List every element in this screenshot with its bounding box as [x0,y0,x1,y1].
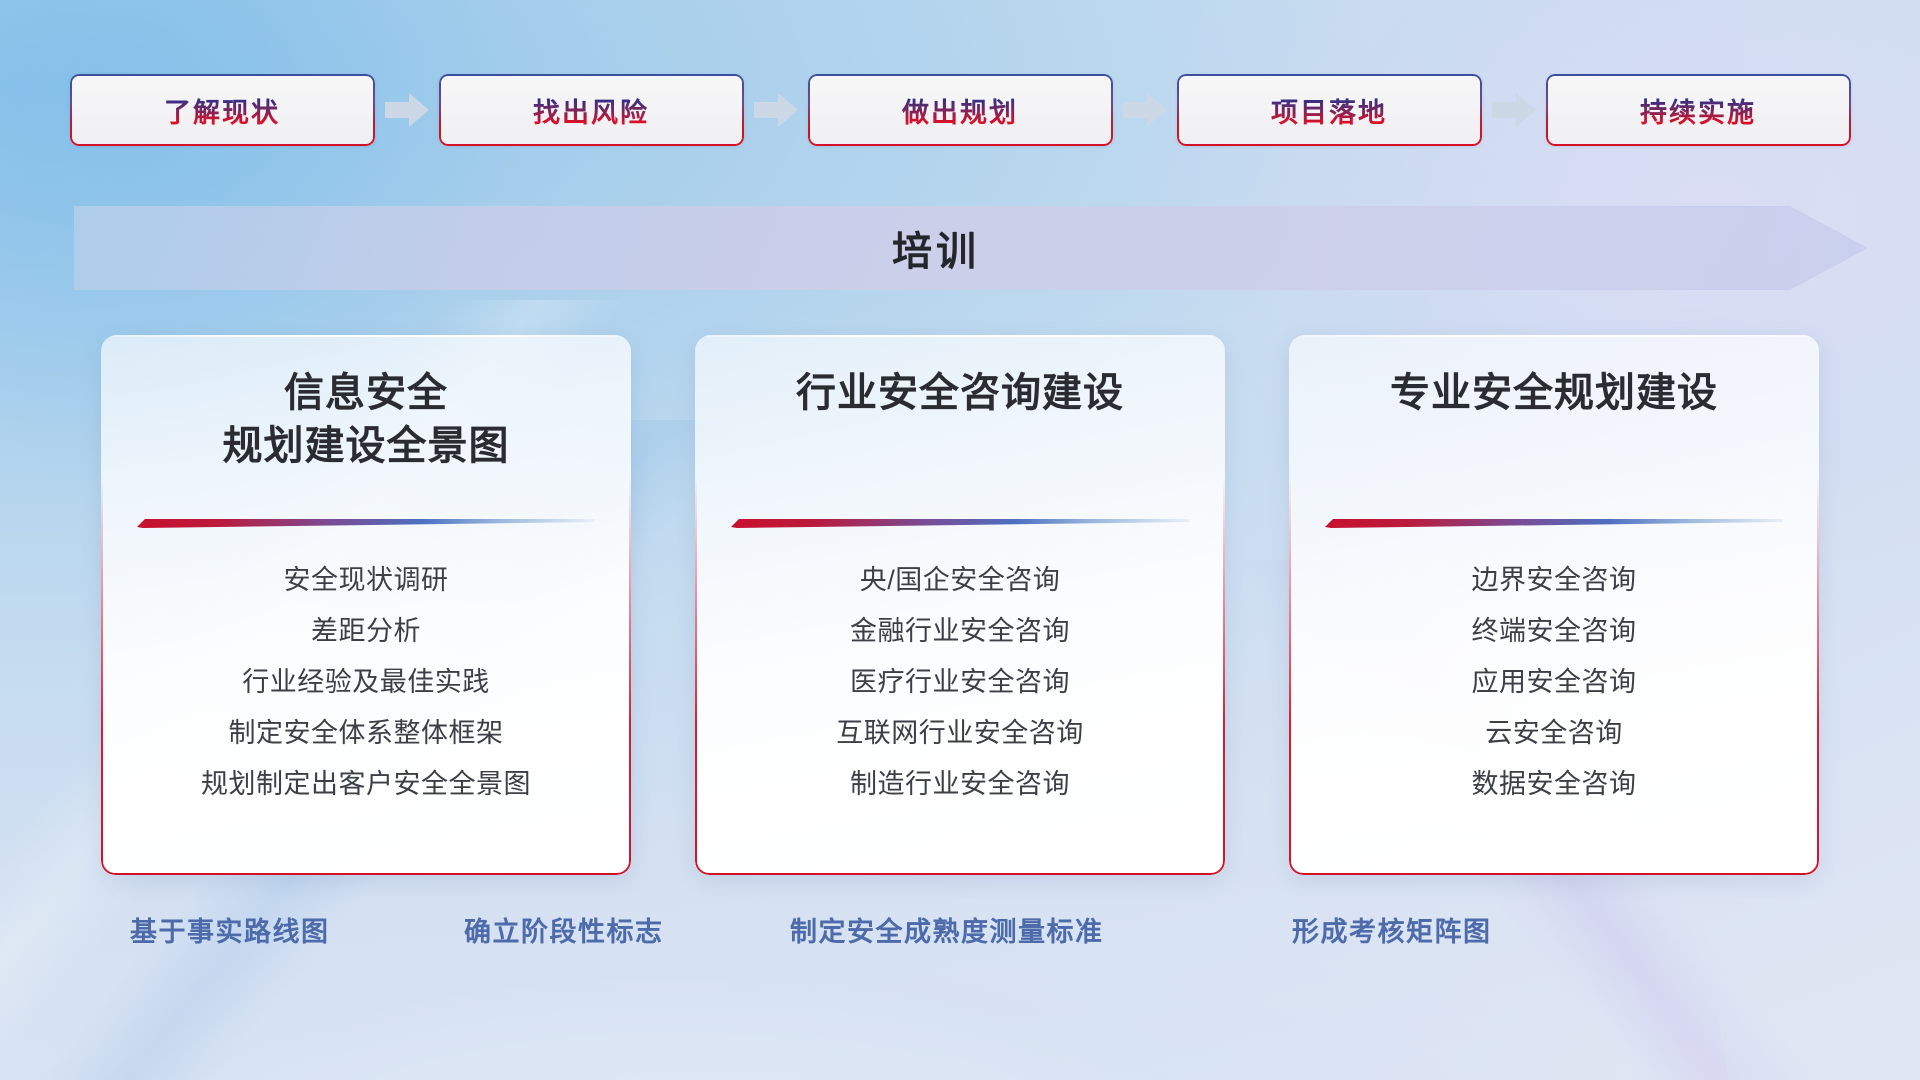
card-divider [137,515,595,529]
process-step-row: 了解现状 找出风险 做出规划 [0,74,1920,146]
step-item-2: 找出风险 [439,74,744,146]
step-label-2: 找出风险 [533,91,649,130]
footer-note-3: 制定安全成熟度测量标准 [790,910,1104,949]
card-item-list: 央/国企安全咨询 金融行业安全咨询 医疗行业安全咨询 互联网行业安全咨询 制造行… [695,555,1225,810]
chevron-right-arrow-icon [1113,74,1177,146]
step-label-4: 项目落地 [1271,91,1387,130]
list-item: 医疗行业安全咨询 [695,657,1225,708]
footer-note-4: 形成考核矩阵图 [1292,910,1492,949]
list-item: 规划制定出客户安全全景图 [101,759,631,810]
chevron-right-arrow-icon [744,74,808,146]
card-top-highlight [101,335,631,337]
step-label-3: 做出规划 [902,91,1018,130]
card-title: 行业安全咨询建设 [695,367,1225,420]
card-professional-security-planning[interactable]: 专业安全规划建设 [1289,335,1819,875]
card-item-list: 安全现状调研 差距分析 行业经验及最佳实践 制定安全体系整体框架 规划制定出客户… [101,555,631,810]
card-title: 专业安全规划建设 [1289,367,1819,420]
step-box-1[interactable]: 了解现状 [70,74,375,146]
list-item: 制定安全体系整体框架 [101,708,631,759]
step-item-4: 项目落地 [1177,74,1482,146]
training-banner: 培训 [74,206,1868,290]
step-item-3: 做出规划 [808,74,1113,146]
card-row: 信息安全 规划建设全景图 [0,335,1920,875]
list-item: 云安全咨询 [1289,708,1819,759]
card-top-highlight [1289,335,1819,337]
step-box-5[interactable]: 持续实施 [1546,74,1851,146]
footer-note-row: 基于事实路线图 确立阶段性标志 制定安全成熟度测量标准 形成考核矩阵图 [0,910,1920,970]
list-item: 边界安全咨询 [1289,555,1819,606]
card-information-security-blueprint[interactable]: 信息安全 规划建设全景图 [101,335,631,875]
list-item: 行业经验及最佳实践 [101,657,631,708]
step-box-3[interactable]: 做出规划 [808,74,1113,146]
step-box-4[interactable]: 项目落地 [1177,74,1482,146]
chevron-right-arrow-icon [1482,74,1546,146]
list-item: 制造行业安全咨询 [695,759,1225,810]
card-divider [731,515,1189,529]
step-item-5: 持续实施 [1546,74,1851,146]
footer-note-1: 基于事实路线图 [130,910,330,949]
list-item: 金融行业安全咨询 [695,606,1225,657]
training-banner-label: 培训 [74,206,1868,290]
footer-note-2: 确立阶段性标志 [464,910,664,949]
card-divider [1325,515,1783,529]
step-label-5: 持续实施 [1640,91,1756,130]
step-item-1: 了解现状 [70,74,375,146]
chevron-right-arrow-icon [375,74,439,146]
card-item-list: 边界安全咨询 终端安全咨询 应用安全咨询 云安全咨询 数据安全咨询 [1289,555,1819,810]
list-item: 差距分析 [101,606,631,657]
list-item: 终端安全咨询 [1289,606,1819,657]
list-item: 数据安全咨询 [1289,759,1819,810]
list-item: 应用安全咨询 [1289,657,1819,708]
list-item: 央/国企安全咨询 [695,555,1225,606]
list-item: 互联网行业安全咨询 [695,708,1225,759]
step-box-2[interactable]: 找出风险 [439,74,744,146]
step-label-1: 了解现状 [164,91,280,130]
card-top-highlight [695,335,1225,337]
card-title: 信息安全 规划建设全景图 [101,367,631,473]
list-item: 安全现状调研 [101,555,631,606]
card-industry-security-consulting[interactable]: 行业安全咨询建设 [695,335,1225,875]
